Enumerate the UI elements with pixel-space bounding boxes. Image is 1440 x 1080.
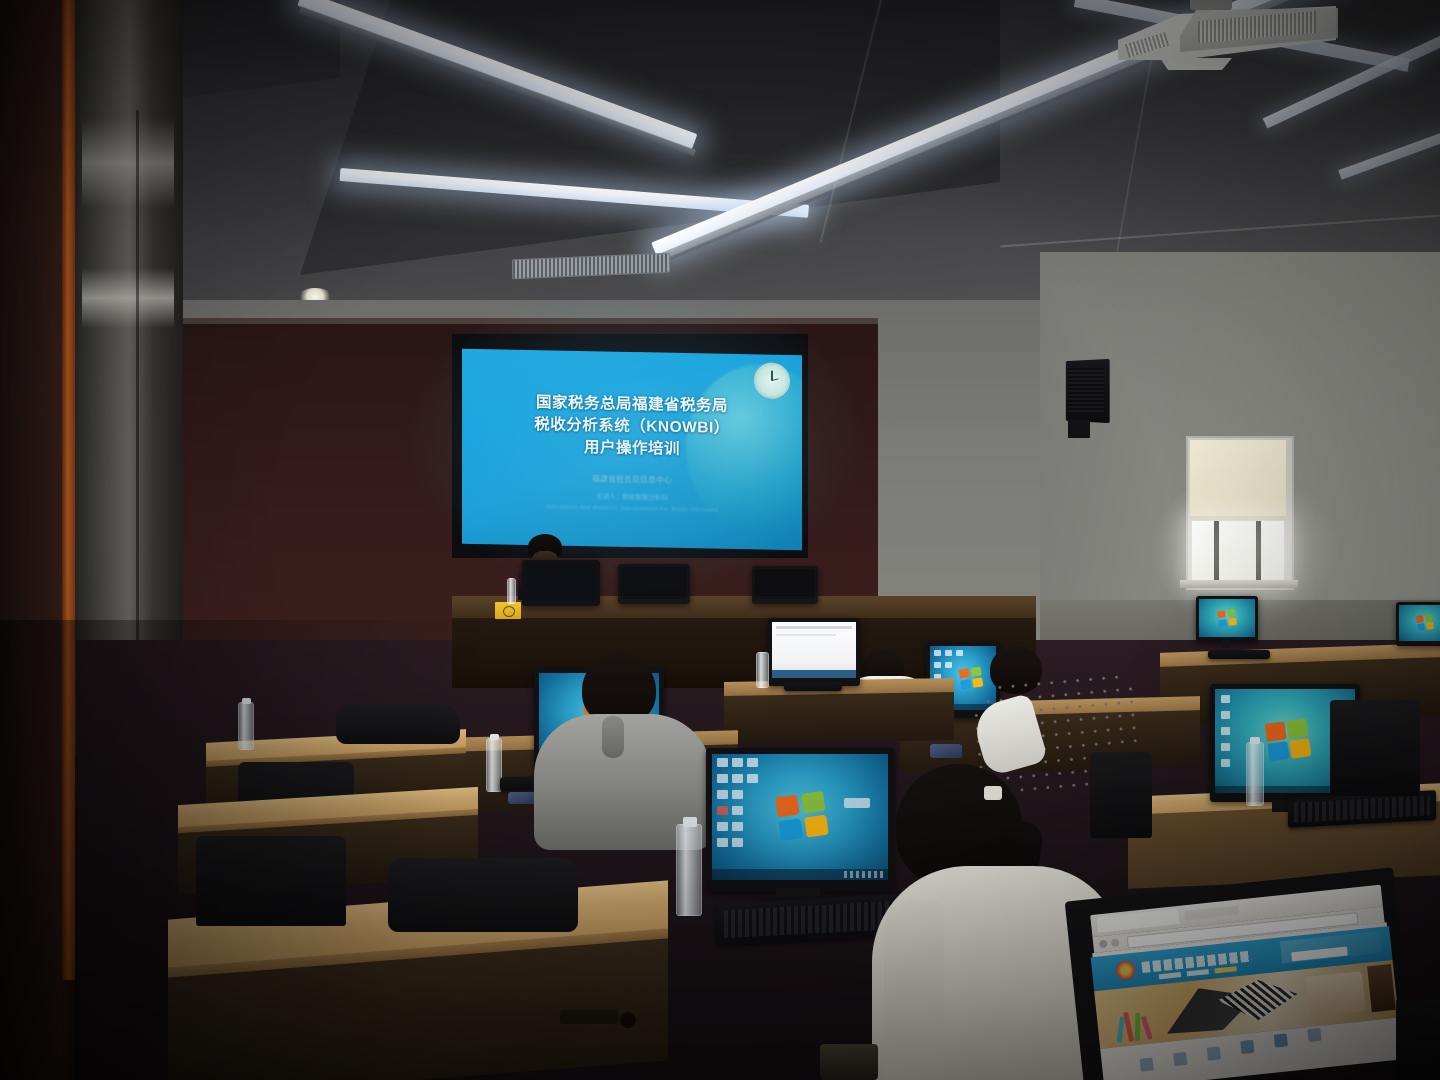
window-roller-blind <box>1190 440 1286 520</box>
student-grey-collar <box>602 716 624 758</box>
screen-back-right-a <box>1199 599 1255 637</box>
window-mullion-2 <box>1256 521 1261 581</box>
window-mullion-1 <box>1214 521 1219 581</box>
podium-monitor-2[interactable] <box>618 564 690 604</box>
pen-icon-3 <box>1135 1013 1140 1041</box>
service-icon-6[interactable] <box>1307 1028 1321 1042</box>
window-glass <box>1192 521 1284 581</box>
site-nav-item-2[interactable] <box>1187 969 1209 976</box>
projector-lens-housing <box>1160 58 1232 70</box>
monitor-back-right-b[interactable] <box>1396 602 1440 646</box>
classroom-photo: 国家税务总局福建省税务局 税收分析系统（KNOWBI） 用户操作培训 福建省税务… <box>0 0 1440 1080</box>
bag-on-desk-1 <box>336 704 460 744</box>
panel-top-trim <box>178 318 878 324</box>
service-icon-5[interactable] <box>1274 1033 1288 1047</box>
monitor-row1-center[interactable] <box>768 618 860 686</box>
screen-back-right-b <box>1399 605 1440 641</box>
chair-foreground-main <box>196 836 346 926</box>
monitor-edge-far-right <box>1396 1000 1440 1080</box>
pen-icon-4 <box>1141 1016 1153 1040</box>
projection-screen[interactable]: 国家税务总局福建省税务局 税收分析系统（KNOWBI） 用户操作培训 福建省税务… <box>462 349 802 551</box>
window-sill <box>1180 580 1298 588</box>
hero-dark-block <box>1367 964 1396 1012</box>
chair-row2-right <box>1090 752 1152 838</box>
pen-icon-2 <box>1123 1012 1134 1042</box>
water-bottle-back-right <box>1246 742 1264 806</box>
metal-glint-1 <box>82 118 174 208</box>
monitor-foreground-center[interactable] <box>706 748 894 892</box>
presenter-monitor-screen <box>525 563 597 601</box>
monitor-back-right-a[interactable] <box>1196 596 1258 642</box>
monitor-foreground-browser[interactable] <box>1065 867 1414 1080</box>
site-nav-item-1[interactable] <box>1159 972 1181 979</box>
blind-bottom-rail <box>1190 516 1286 520</box>
taskbar-tray-icons <box>844 871 884 878</box>
drawer-handle-1[interactable] <box>560 1010 618 1024</box>
drawer-knob-1[interactable] <box>620 1012 636 1028</box>
projector-mount <box>1190 0 1232 10</box>
water-bottle-row1-center <box>756 652 769 688</box>
presenter-monitor[interactable] <box>522 560 600 606</box>
desk-object-foreground <box>820 1044 878 1080</box>
computer-tower-right <box>1330 700 1420 796</box>
site-nav-item-3[interactable] <box>1214 966 1236 973</box>
keyboard-back-right-a[interactable] <box>1208 650 1270 659</box>
service-icon-2[interactable] <box>1173 1052 1187 1066</box>
national-emblem-icon <box>1115 960 1136 981</box>
speaker-bracket <box>1068 420 1090 438</box>
screen-foreground-center <box>712 754 888 880</box>
yellow-desk-placard <box>495 602 521 619</box>
browser-back-icon[interactable] <box>1099 940 1108 949</box>
browser-tab-2[interactable] <box>1184 906 1239 921</box>
monitor-stand-a <box>1222 640 1231 648</box>
wood-accent-strip <box>62 0 75 980</box>
service-icon-4[interactable] <box>1240 1040 1254 1054</box>
desk-row1-center-front <box>724 692 954 744</box>
speaker-grille <box>1068 368 1104 412</box>
screen-row1-center-document <box>772 622 856 678</box>
browser-forward-icon[interactable] <box>1111 938 1120 947</box>
phone-on-desk-right <box>930 744 962 758</box>
bag-on-desk-2 <box>388 858 578 932</box>
metal-glint-2 <box>82 268 174 328</box>
keyboard-row1-center[interactable] <box>784 682 842 691</box>
student-ponytail-arm <box>884 900 944 1080</box>
water-bottle-foreground <box>676 824 702 916</box>
service-icon-3[interactable] <box>1207 1046 1221 1060</box>
water-bottle-podium <box>507 578 516 604</box>
clock-icon <box>754 362 790 399</box>
screen-notification-chip <box>844 798 870 808</box>
podium-monitor-3[interactable] <box>752 566 818 604</box>
hero-paper <box>1306 971 1366 1017</box>
water-bottle-left-1 <box>238 702 254 750</box>
service-icon-1[interactable] <box>1139 1057 1153 1071</box>
hair-tie <box>984 786 1002 800</box>
